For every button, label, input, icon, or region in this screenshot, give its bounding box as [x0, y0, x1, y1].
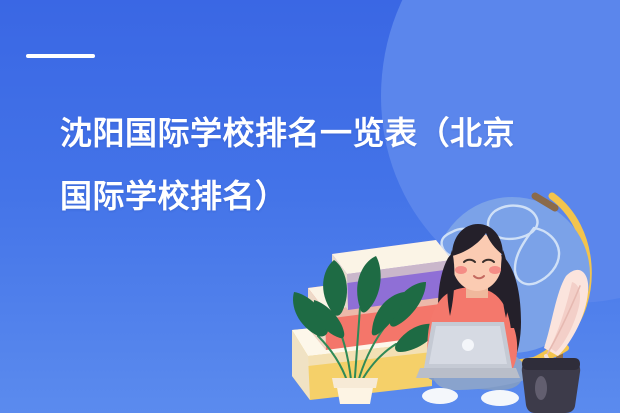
plant-pot: [336, 382, 374, 404]
plant-leaves: [293, 256, 440, 352]
girl-neck: [466, 282, 488, 298]
girl-cheek-left: [455, 266, 467, 274]
book-middle: [308, 272, 448, 350]
girl-sweater: [427, 287, 512, 378]
inkpot-body: [522, 362, 580, 413]
globe-ring-lower: [452, 348, 566, 363]
laptop-base: [416, 368, 520, 378]
laptop-screen: [424, 322, 512, 368]
plant-stems: [318, 308, 396, 390]
plant-illustration: [293, 256, 440, 404]
globe-stand-leg-right: [556, 316, 563, 368]
book-bottom: [292, 318, 432, 400]
girl-hair-strand-left: [447, 250, 454, 316]
book-top: [332, 240, 452, 310]
girl-arm-right: [496, 328, 517, 370]
laptop-logo: [462, 339, 474, 351]
page-title: 沈阳国际学校排名一览表（北京 国际学校排名）: [60, 102, 560, 228]
laptop-screen-inner: [429, 326, 507, 364]
article-cover-banner: 沈阳国际学校排名一览表（北京 国际学校排名）: [0, 0, 620, 413]
accent-rule: [26, 54, 95, 58]
globe-stand-leg-left: [477, 320, 484, 372]
girl-shoe-right: [481, 390, 519, 406]
plant-pot-rim: [332, 378, 378, 388]
inkpot-neck: [522, 358, 580, 370]
girl-leg-right: [433, 346, 529, 390]
inkpot-highlight: [535, 376, 547, 400]
quill-nib: [546, 356, 552, 370]
girl-shoe-left: [422, 388, 458, 404]
girl-arm-left: [434, 330, 456, 372]
book-stack-illustration: [292, 240, 452, 400]
girl-leg-left: [427, 346, 523, 390]
